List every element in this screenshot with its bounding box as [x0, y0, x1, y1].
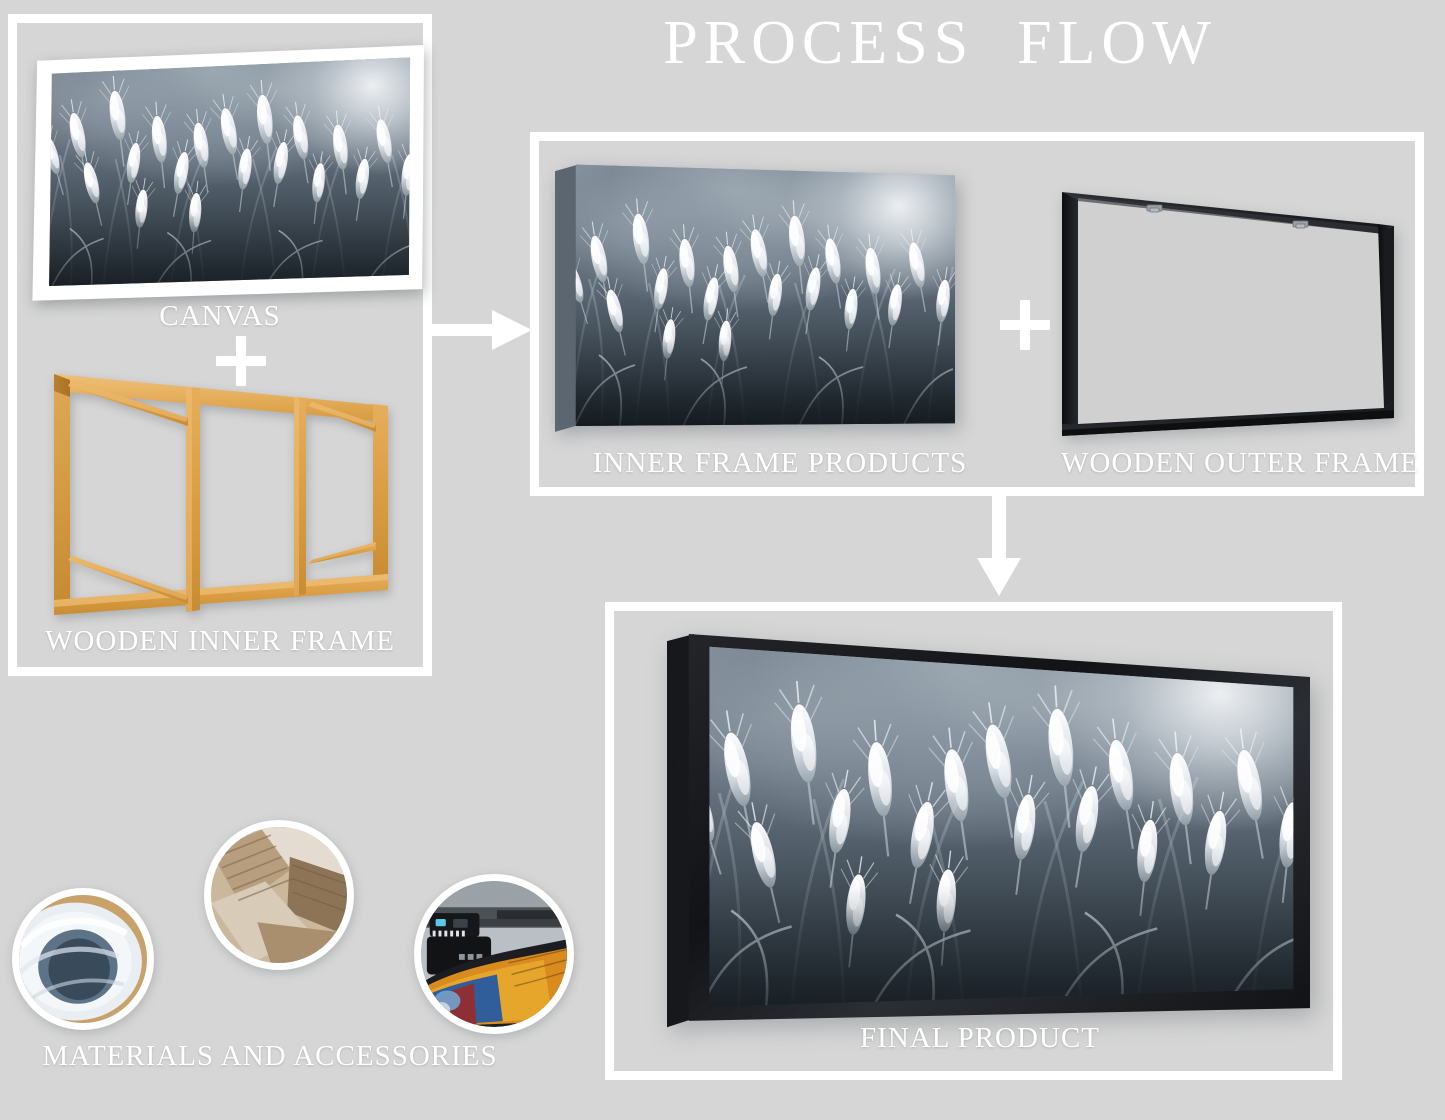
wheat-artwork-svg: [30, 44, 428, 302]
wooden-bars-icon: [211, 827, 347, 963]
arrow-right-icon: [424, 308, 534, 352]
arrow-down-svg: [975, 490, 1023, 598]
page-title: PROCESS FLOW: [560, 8, 1320, 79]
label-canvas: CANVAS: [60, 300, 380, 333]
label-final-product: FINAL PRODUCT: [700, 1022, 1260, 1055]
thumbnail-inner: [19, 895, 147, 1023]
thumbnail-inner: [211, 827, 347, 963]
canvas-print-image: [30, 44, 428, 302]
label-materials-and-accessories: MATERIALS AND ACCESSORIES: [20, 1040, 520, 1073]
label-inner-frame-products: INNER FRAME PRODUCTS: [570, 447, 990, 480]
wooden-outer-frame-image: [1046, 186, 1404, 442]
label-wooden-inner-frame: WOODEN INNER FRAME: [20, 625, 420, 658]
final-product-image: [667, 630, 1310, 1028]
plus-icon-inner-outer: [1000, 300, 1050, 350]
arrow-right-svg: [424, 308, 534, 352]
thumbnail-wooden-bars: [204, 820, 354, 970]
thumbnail-large-format-printer: [414, 874, 574, 1034]
thumbnail-canvas-roll: [12, 888, 154, 1030]
label-wooden-outer-frame: WOODEN OUTER FRAME: [1060, 447, 1420, 480]
outer-frame-svg: [1046, 186, 1404, 442]
infographic-stage: PROCESS FLOW: [0, 0, 1445, 1120]
wheat-artwork-final: [667, 630, 1310, 1028]
wheat-artwork-svg: [667, 630, 1310, 1028]
arrow-down-icon: [975, 490, 1023, 598]
wheat-artwork-canvas: [30, 44, 428, 302]
printer-icon: [421, 881, 567, 1027]
wheat-artwork-inner: [555, 163, 955, 433]
wooden-inner-frame-image: [36, 364, 412, 626]
wooden-frame-svg: [36, 364, 412, 626]
wheat-artwork-svg: [555, 163, 955, 433]
canvas-roll-icon: [19, 895, 147, 1023]
thumbnail-inner: [421, 881, 567, 1027]
inner-frame-product-image: [555, 163, 955, 433]
